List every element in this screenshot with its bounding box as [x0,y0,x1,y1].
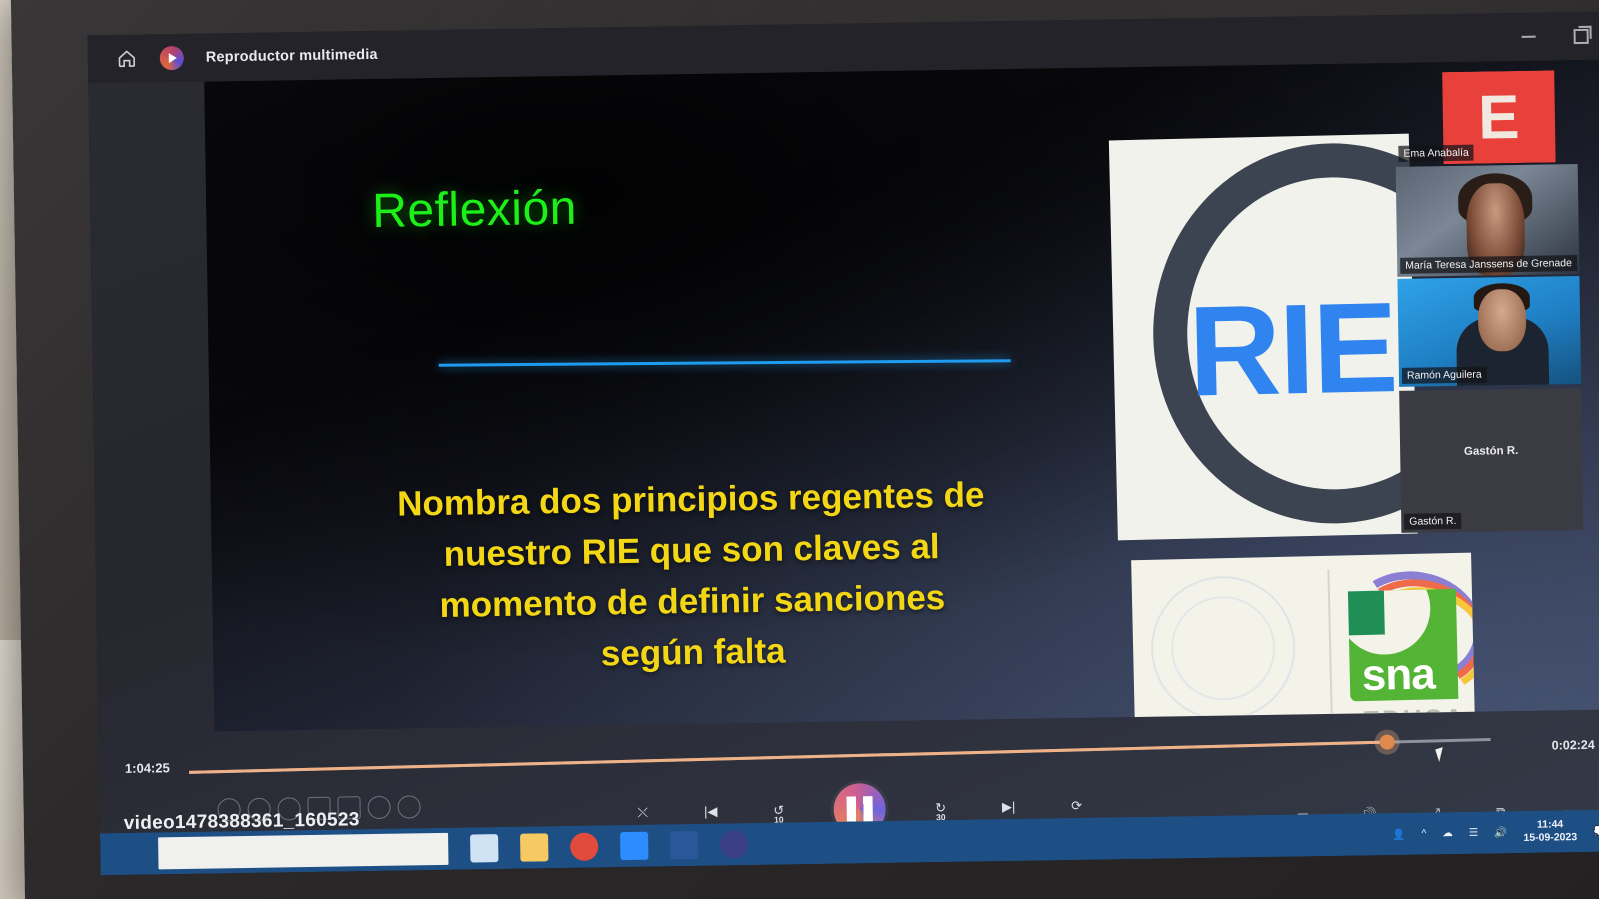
sna-logo-text: sna [1361,649,1435,701]
home-icon[interactable] [116,48,138,70]
media-player-taskbar-icon[interactable] [720,830,748,858]
shuffle-button[interactable]: ⤬ [630,800,656,826]
action-center-icon[interactable]: 💭 [1593,824,1599,837]
file-explorer-icon[interactable] [520,833,548,861]
participant-name: Ema Anabalía [1398,145,1474,162]
people-icon[interactable]: 👤 [1392,827,1405,840]
slide-title: Reflexión [372,181,577,239]
institution-seal-icon [1150,575,1297,722]
pause-glyph [846,796,872,822]
media-player-icon[interactable] [160,46,184,70]
clock[interactable]: 11:44 15-09-2023 [1523,818,1577,845]
window-controls [1519,12,1590,61]
network-icon[interactable]: ☰ [1469,827,1479,839]
participant-name: María Teresa Janssens de Grenade [1400,255,1577,274]
seek-fill [189,741,1380,774]
chrome-icon[interactable] [570,833,598,861]
search-input[interactable] [158,833,448,870]
sna-educa-logo-panel: sna EDUCA [1131,553,1475,732]
zoom-icon[interactable] [620,832,648,860]
participant-tile[interactable]: E Ema Anabalía [1394,70,1577,165]
previous-button[interactable]: |◀ [698,799,724,825]
word-icon[interactable] [670,831,698,859]
seek-handle[interactable] [1380,734,1395,749]
sna-leaf-shape [1348,591,1385,636]
seek-slider[interactable] [189,738,1491,774]
next-button[interactable]: ▶| [995,794,1021,820]
video-surface[interactable]: Reflexión Nombra dos principios regentes… [204,60,1599,732]
slide-body: Nombra dos principios regentes de nuestr… [345,469,1038,684]
remaining-time: 0:02:24 [1552,738,1595,753]
task-view-icon[interactable] [470,834,498,862]
participant-center-label: Gastón R. [1400,444,1582,459]
forward-30-button[interactable]: ↻ 30 [927,795,953,821]
media-player-window: Reproductor multimedia Reflexión Nombra … [87,12,1599,876]
progress-area: 1:04:25 0:02:24 [99,727,1599,777]
laptop-screen: Reproductor multimedia Reflexión Nombra … [87,12,1599,876]
laptop-bezel: Reproductor multimedia Reflexión Nombra … [11,0,1599,899]
rie-logo-text: RIE [1187,284,1397,417]
restore-button[interactable] [1571,27,1589,45]
system-tray: 👤 ^ ☁ ☰ 🔊 11:44 15-09-2023 💭 [1392,818,1599,848]
rie-logo-panel: RIE [1109,134,1418,541]
participant-tile[interactable]: Ramón Aguilera [1397,276,1581,387]
elapsed-time: 1:04:25 [125,760,170,776]
participant-name: Ramón Aguilera [1402,366,1487,383]
participant-name: Gastón R. [1404,513,1462,530]
rewind-10-button[interactable]: ↺ 10 [766,797,792,823]
show-hidden-icons-icon[interactable]: ^ [1421,827,1426,839]
app-title: Reproductor multimedia [206,47,378,66]
person-face [1478,289,1527,352]
participant-tile[interactable]: Gastón R. Gastón R. [1399,388,1583,533]
participant-tile[interactable]: María Teresa Janssens de Grenade [1396,164,1580,277]
participant-strip: E Ema Anabalía María Teresa Janssens de … [1394,70,1583,533]
repeat-off-button[interactable]: ⟳ [1063,793,1089,819]
minimize-button[interactable] [1520,28,1538,46]
onedrive-icon[interactable]: ☁ [1442,827,1453,839]
tray-time: 11:44 [1523,818,1577,832]
tray-date: 15-09-2023 [1523,831,1577,845]
volume-tray-icon[interactable]: 🔊 [1494,826,1507,839]
logo-divider [1327,570,1333,732]
photo-scene: Reproductor multimedia Reflexión Nombra … [0,0,1599,899]
slide-body-line: según falta [348,622,1039,684]
